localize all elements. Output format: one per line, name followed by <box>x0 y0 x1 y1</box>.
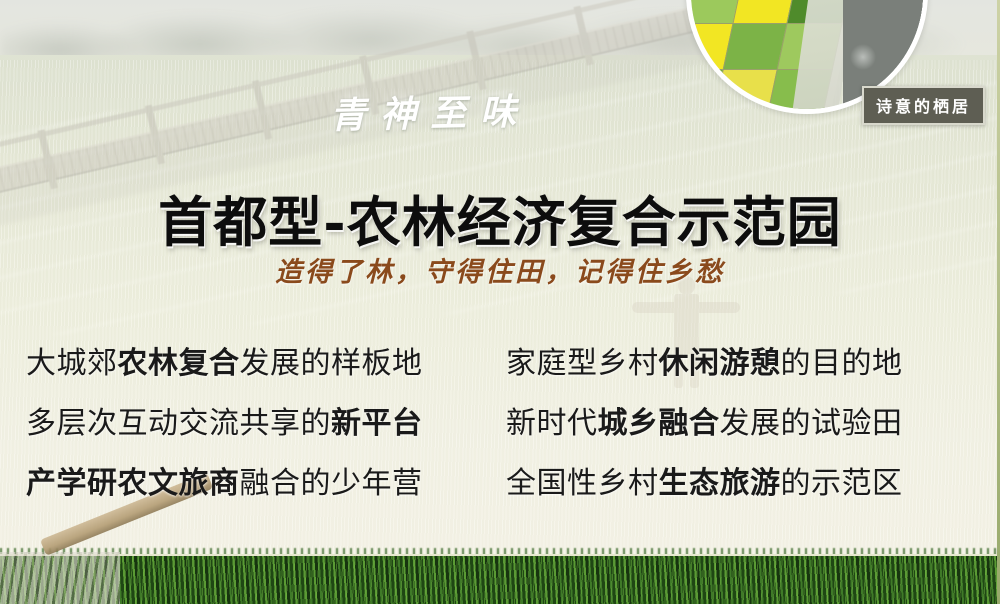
claim-item: 多层次互动交流共享的新平台 <box>0 398 496 442</box>
jetty-planks <box>0 552 120 604</box>
calligraphy-eyebrow: 青神至味 <box>329 81 610 139</box>
claim-row: 产学研农文旅商融合的少年营 全国性乡村生态旅游的示范区 <box>0 450 1000 510</box>
claim-row: 多层次互动交流共享的新平台 新时代城乡融合发展的试验田 <box>0 390 1000 450</box>
bottom-grass-band <box>0 554 1000 604</box>
claim-item: 大城郊农林复合发展的样板地 <box>0 338 496 382</box>
poster-canvas: 诗意的栖居 青神至味 首都型-农林经济复合示范园 造得了林，守得住田，记得住乡愁… <box>0 0 1000 604</box>
status-badge: 诗意的栖居 <box>862 86 985 125</box>
claim-item: 全国性乡村生态旅游的示范区 <box>496 458 976 502</box>
claims-grid: 大城郊农林复合发展的样板地 家庭型乡村休闲游憩的目的地 多层次互动交流共享的新平… <box>0 330 1000 510</box>
claim-item: 新时代城乡融合发展的试验田 <box>496 398 976 442</box>
page-title: 首都型-农林经济复合示范园 <box>0 178 1000 257</box>
claim-item: 家庭型乡村休闲游憩的目的地 <box>496 338 976 382</box>
page-subtitle: 造得了林，守得住田，记得住乡愁 <box>0 250 1000 289</box>
claim-row: 大城郊农林复合发展的样板地 家庭型乡村休闲游憩的目的地 <box>0 330 1000 390</box>
claim-item: 产学研农文旅商融合的少年营 <box>0 458 496 502</box>
